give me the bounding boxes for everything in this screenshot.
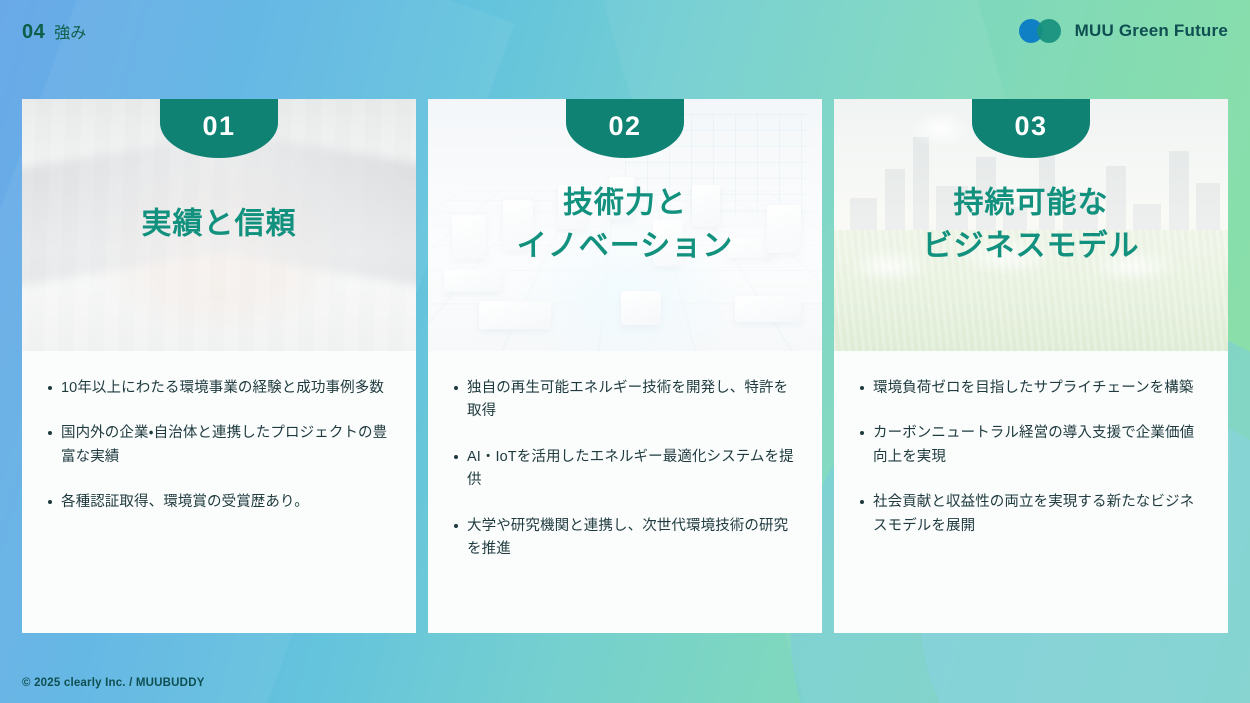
card-02-hero: 02 技術力と イノベーション <box>428 99 822 351</box>
card-02-bullet-list: 独自の再生可能エネルギー技術を開発し、特許を取得 AI・IoTを活用したエネルギ… <box>428 351 822 633</box>
list-item-text: 環境負荷ゼロを目指したサプライチェーンを構築 <box>873 377 1202 400</box>
list-item-text: カーボンニュートラル経営の導入支援で企業価値向上を実現 <box>873 422 1202 469</box>
strength-card-03: 03 持続可能な ビジネスモデル 環境負荷ゼロを目指したサプライチェーンを構築 … <box>834 99 1228 633</box>
list-item: 各種認証取得、環境賞の受賞歴あり。 <box>48 491 390 514</box>
strength-card-01: 01 実績と信頼 10年以上にわたる環境事業の経験と成功事例多数 国内外の企業・… <box>22 99 416 633</box>
strength-card-02: 02 技術力と イノベーション 独自の再生可能エネルギー技術を開発し、特許を取得… <box>428 99 822 633</box>
list-item-text: 社会貢献と収益性の両立を実現する新たなビジネスモデルを展開 <box>873 491 1202 538</box>
bullet-dot-icon <box>454 455 458 459</box>
brand-logo: MUU Green Future <box>1019 19 1228 43</box>
card-01-title: 実績と信頼 <box>22 204 416 247</box>
card-03-bullet-list: 環境負荷ゼロを目指したサプライチェーンを構築 カーボンニュートラル経営の導入支援… <box>834 351 1228 633</box>
list-item: カーボンニュートラル経営の導入支援で企業価値向上を実現 <box>860 422 1202 469</box>
card-01-number: 01 <box>202 113 235 140</box>
page-title: 04 強み <box>22 19 86 44</box>
strength-cards-row: 01 実績と信頼 10年以上にわたる環境事業の経験と成功事例多数 国内外の企業・… <box>22 99 1228 633</box>
bullet-dot-icon <box>48 431 52 435</box>
list-item: 社会貢献と収益性の両立を実現する新たなビジネスモデルを展開 <box>860 491 1202 538</box>
two-circles-logo-icon <box>1019 19 1065 43</box>
card-03-title: 持続可能な ビジネスモデル <box>834 182 1228 267</box>
list-item: 大学や研究機関と連携し、次世代環境技術の研究を推進 <box>454 515 796 562</box>
page-number: 04 <box>22 21 45 44</box>
bullet-dot-icon <box>860 386 864 390</box>
bullet-dot-icon <box>454 386 458 390</box>
list-item-text: 国内外の企業・自治体と連携したプロジェクトの豊富な実績 <box>61 422 390 469</box>
footer-copyright: © 2025 clearly Inc. / MUUBUDDY <box>22 677 205 689</box>
list-item-text: 10年以上にわたる環境事業の経験と成功事例多数 <box>61 377 390 400</box>
list-item-text: 各種認証取得、環境賞の受賞歴あり。 <box>61 491 390 514</box>
card-01-hero: 01 実績と信頼 <box>22 99 416 351</box>
list-item-text: 独自の再生可能エネルギー技術を開発し、特許を取得 <box>467 377 796 424</box>
card-03-number: 03 <box>1014 113 1047 140</box>
card-02-title: 技術力と イノベーション <box>428 182 822 267</box>
bullet-dot-icon <box>48 500 52 504</box>
slide-header: 04 強み MUU Green Future <box>0 0 1250 62</box>
page-label: 強み <box>54 19 86 43</box>
list-item: 環境負荷ゼロを目指したサプライチェーンを構築 <box>860 377 1202 400</box>
list-item-text: 大学や研究機関と連携し、次世代環境技術の研究を推進 <box>467 515 796 562</box>
bullet-dot-icon <box>860 431 864 435</box>
card-03-hero: 03 持続可能な ビジネスモデル <box>834 99 1228 351</box>
list-item: 独自の再生可能エネルギー技術を開発し、特許を取得 <box>454 377 796 424</box>
logo-circle-green <box>1037 19 1061 43</box>
bullet-dot-icon <box>454 524 458 528</box>
list-item: 10年以上にわたる環境事業の経験と成功事例多数 <box>48 377 390 400</box>
list-item-text: AI・IoTを活用したエネルギー最適化システムを提供 <box>467 446 796 493</box>
slide: 04 強み MUU Green Future 01 実績と信頼 <box>0 0 1250 703</box>
bullet-dot-icon <box>860 500 864 504</box>
card-02-number: 02 <box>608 113 641 140</box>
bullet-dot-icon <box>48 386 52 390</box>
card-01-bullet-list: 10年以上にわたる環境事業の経験と成功事例多数 国内外の企業・自治体と連携したプ… <box>22 351 416 633</box>
list-item: 国内外の企業・自治体と連携したプロジェクトの豊富な実績 <box>48 422 390 469</box>
list-item: AI・IoTを活用したエネルギー最適化システムを提供 <box>454 446 796 493</box>
brand-name: MUU Green Future <box>1075 21 1228 41</box>
